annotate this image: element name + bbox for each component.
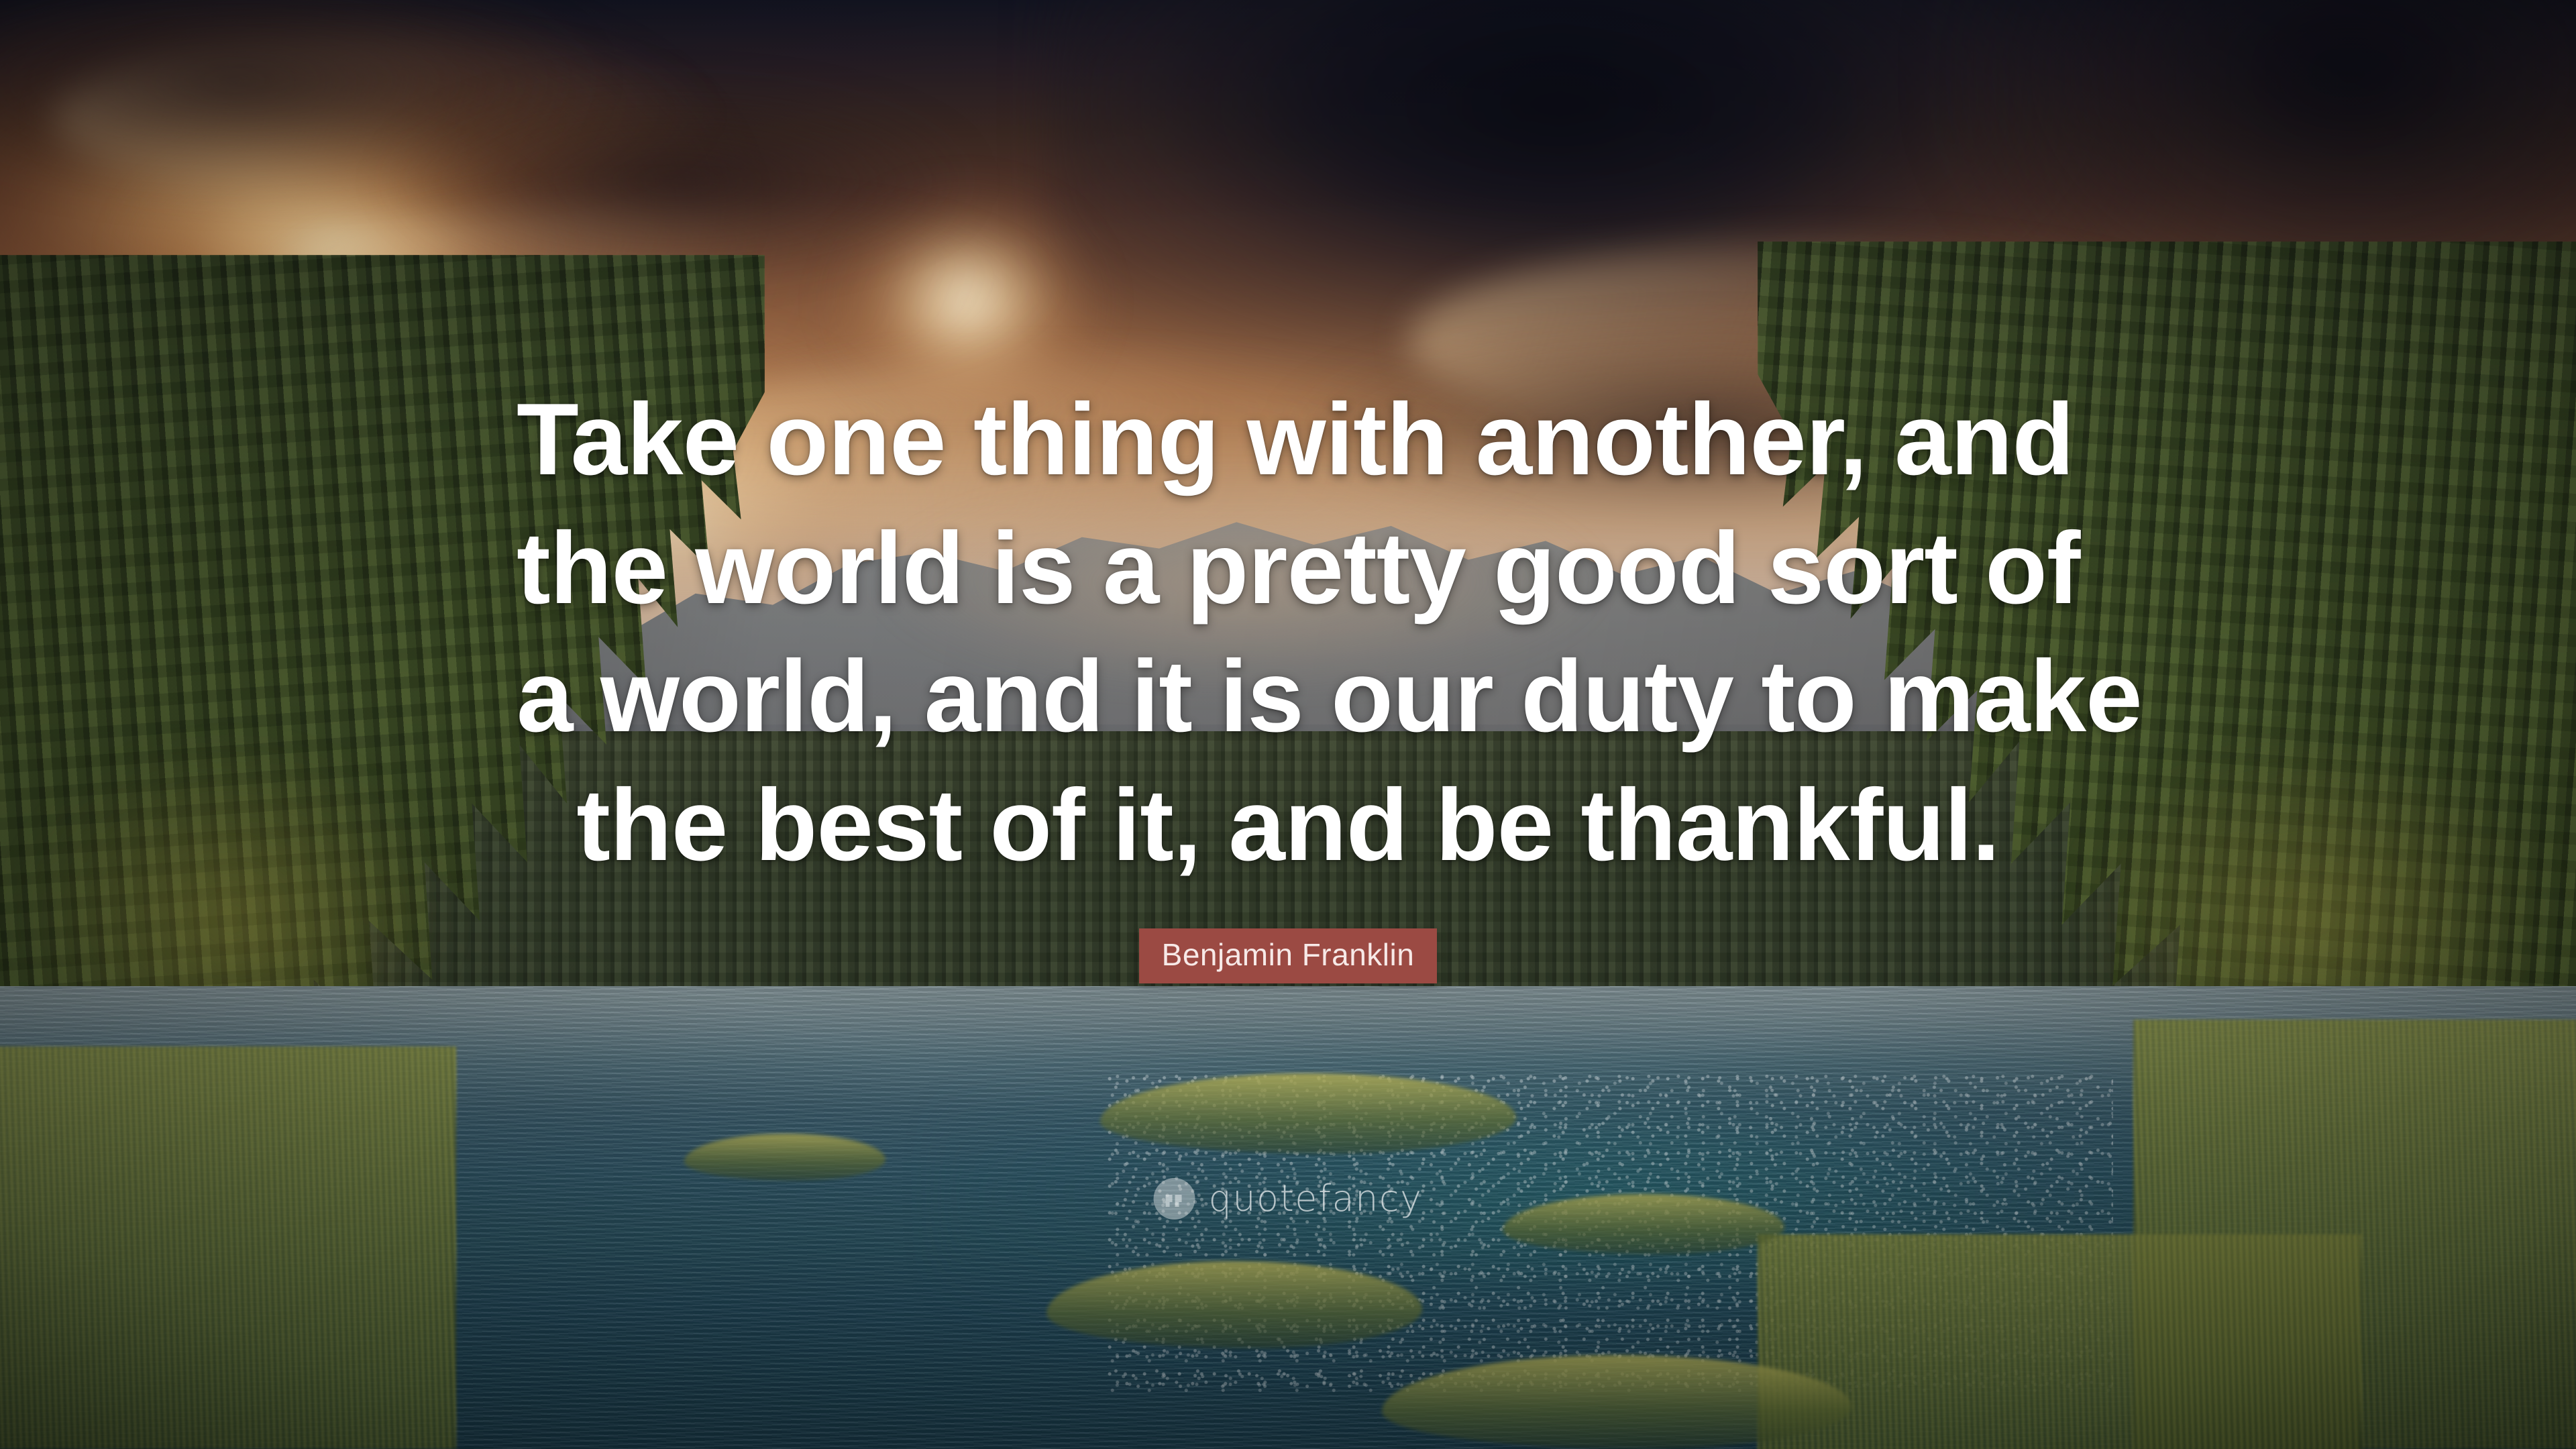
quotefancy-watermark[interactable]: quotefancy: [1154, 1177, 1423, 1220]
quote-content: Take one thing with another, and the wor…: [0, 0, 2576, 1449]
quote-mark-icon: [1154, 1178, 1195, 1220]
quote-line: the world is a pretty good sort of: [517, 504, 2059, 633]
quotefancy-brand: quotefancy: [1209, 1177, 1423, 1220]
quote-line: Take one thing with another, and: [517, 376, 2059, 504]
quote-line: the best of it, and be thankful.: [517, 761, 2059, 890]
quote-line: a world, and it is our duty to make: [517, 633, 2059, 761]
quote-image: Take one thing with another, and the wor…: [0, 0, 2576, 1449]
author-badge[interactable]: Benjamin Franklin: [1139, 928, 1438, 983]
quote-text: Take one thing with another, and the wor…: [517, 376, 2059, 890]
